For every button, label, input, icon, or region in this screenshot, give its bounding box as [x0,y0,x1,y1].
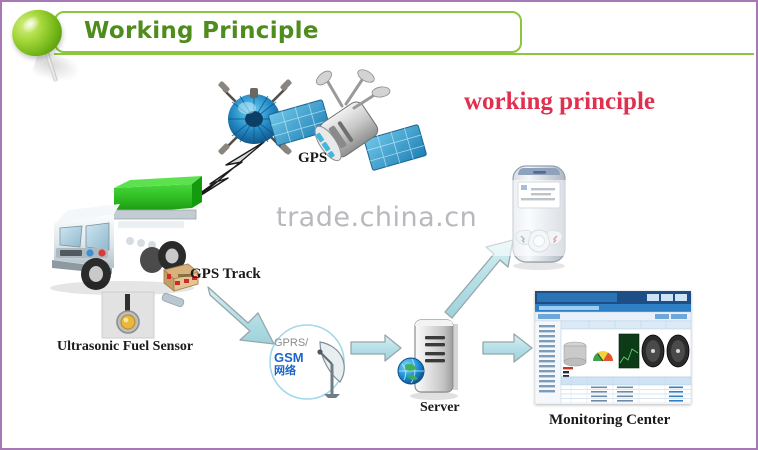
arrow-tracker-to-network [208,287,274,344]
network-label-gprs: GPRS/ [274,338,340,350]
mobile-phone-icon [513,166,565,270]
monitoring-dashboard-screenshot [535,291,691,404]
network-label-cn: 网络 [274,365,340,377]
network-label-group: GPRS/ GSM 网络 [274,338,340,377]
arrow-server-to-monitoring [483,334,532,362]
server-tower-icon [398,320,458,400]
ultrasonic-fuel-sensor-icon [102,292,185,338]
arrow-network-to-server [351,335,401,361]
working-principle-diagram: Working Principle [0,0,758,450]
network-label-gsm: GSM [274,351,340,365]
globe-icon [398,358,424,384]
arrow-server-to-mobile [445,240,513,318]
satellite-icon [268,67,426,170]
